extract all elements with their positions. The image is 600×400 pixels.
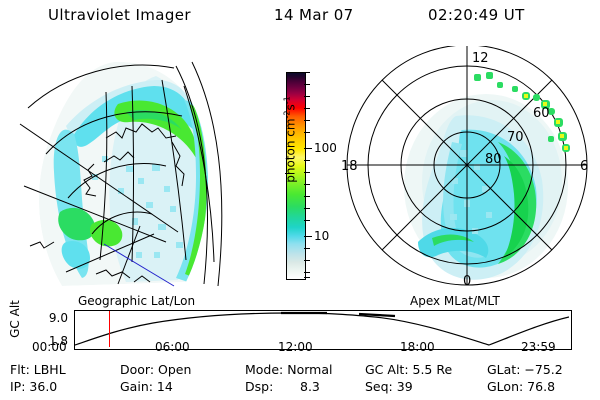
polar-emission-layer — [404, 94, 568, 280]
orbit-altitude-panel[interactable]: Geographic Lat/Lon Apex MLat/MLT GC Alt … — [0, 294, 600, 356]
mlat-label-80: 80 — [485, 152, 502, 167]
polar-panel-caption: Apex MLat/MLT — [410, 294, 500, 308]
status-sequence: Seq: 39 — [365, 379, 413, 394]
mlat-label-70: 70 — [507, 130, 524, 145]
status-door: Door: Open — [120, 362, 191, 377]
status-block: Flt: LBHL Door: Open Mode: Normal GC Alt… — [0, 362, 600, 400]
mlt-label-12: 12 — [472, 51, 489, 66]
orbit-xtick-1: 06:00 — [155, 340, 190, 354]
status-flight-mode: Flt: LBHL — [10, 362, 66, 377]
status-gc-altitude: GC Alt: 5.5 Re — [365, 362, 452, 377]
polar-grid — [347, 46, 587, 285]
current-time-marker — [109, 311, 110, 347]
geographic-image-panel[interactable] — [6, 46, 256, 294]
colorbar-tick-10: 10 — [314, 229, 329, 243]
status-dsp-label: Dsp: — [245, 379, 273, 394]
orbit-xtick-0: 00:00 — [32, 340, 67, 354]
status-gain: Gain: 14 — [120, 379, 173, 394]
unit-exp-2: -1 — [283, 96, 292, 104]
observation-time: 02:20:49 UT — [428, 6, 525, 24]
orbit-xtick-4: 23:59 — [521, 340, 556, 354]
orbit-xtick-2: 12:00 — [278, 340, 313, 354]
orbit-plot-box — [74, 310, 572, 350]
observation-date: 14 Mar 07 — [274, 6, 354, 24]
polar-mlt-panel[interactable]: 12 18 6 0 60 70 80 — [336, 46, 600, 294]
status-glat: GLat: −75.2 — [487, 362, 563, 377]
orbit-ytick-top: 9.0 — [34, 311, 68, 325]
geographic-panel-caption: Geographic Lat/Lon — [78, 294, 195, 308]
status-mode: Mode: Normal — [245, 362, 332, 377]
polar-plot: 12 18 6 0 60 70 80 — [336, 46, 600, 294]
uvi-display: Ultraviolet Imager 14 Mar 07 02:20:49 UT — [0, 0, 600, 400]
instrument-title: Ultraviolet Imager — [48, 6, 191, 24]
unit-mid: s — [284, 104, 298, 110]
geographic-plot — [6, 46, 256, 294]
orbit-xtick-3: 18:00 — [400, 340, 435, 354]
header-bar: Ultraviolet Imager 14 Mar 07 02:20:49 UT — [0, 6, 600, 32]
mlt-label-18: 18 — [341, 159, 358, 174]
status-glon: GLon: 76.8 — [487, 379, 555, 394]
mlt-label-0: 0 — [463, 274, 471, 289]
status-ip: IP: 36.0 — [10, 379, 57, 394]
mlat-label-60: 60 — [533, 106, 550, 121]
unit-exp-1: -2 — [283, 110, 292, 118]
mlt-label-6: 6 — [580, 159, 588, 174]
colorbar-panel: 100 10 photon cm-2s-1 — [256, 46, 336, 294]
colorbar-unit-label: photon cm-2s-1 — [283, 60, 298, 220]
orbit-altitude-trace — [75, 311, 569, 347]
aurora-emission-layer — [39, 62, 208, 286]
orbit-y-axis-label: GC Alt — [8, 294, 22, 350]
colorbar-ticks — [304, 72, 311, 278]
colorbar-tick-100: 100 — [314, 141, 336, 155]
status-dsp-value: 8.3 — [300, 379, 320, 394]
unit-prefix: photon cm — [284, 118, 298, 182]
